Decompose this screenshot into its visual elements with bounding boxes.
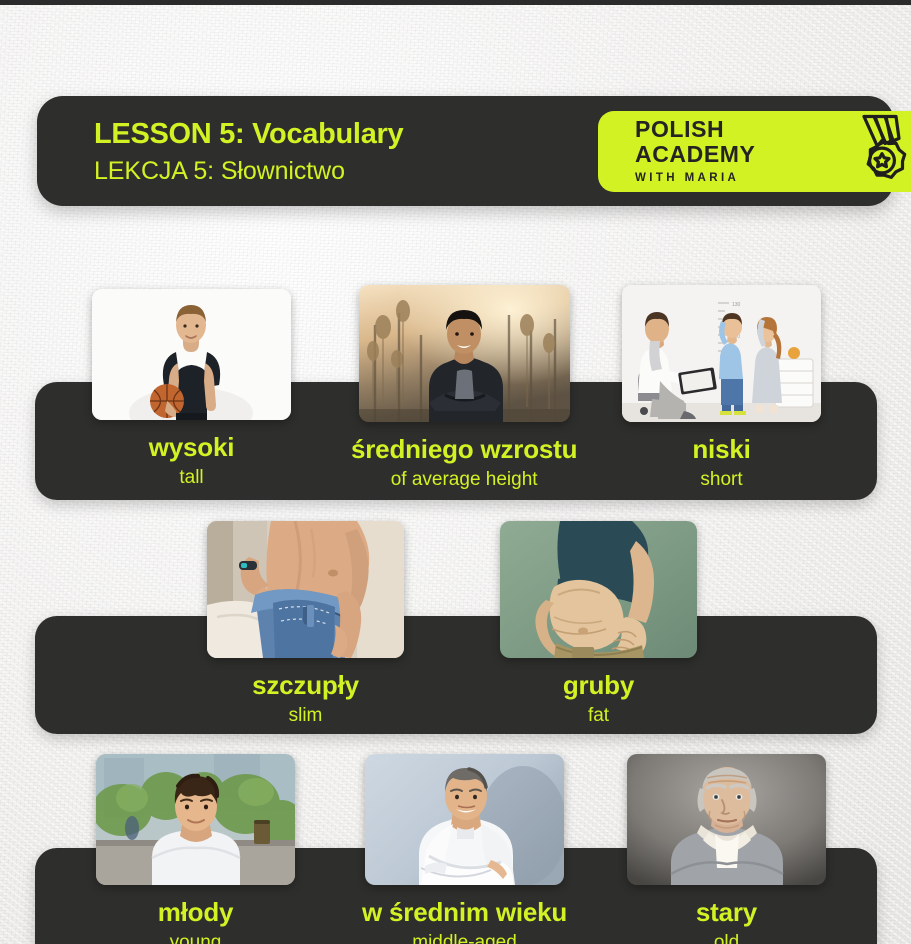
brand-wordmark: POLISH ACADEMY WITH MARIA bbox=[635, 117, 755, 187]
vocab-card-szczuply[interactable]: szczupły slim bbox=[207, 521, 404, 729]
tall-man-with-basketball-photo bbox=[92, 289, 291, 420]
brand-line-polish: POLISH bbox=[635, 117, 755, 142]
vocab-word-polish: stary bbox=[696, 897, 757, 927]
vocab-word-polish: wysoki bbox=[149, 432, 235, 462]
vocab-card-wysoki[interactable]: wysoki tall bbox=[92, 289, 291, 491]
vocab-word-polish: w średnim wieku bbox=[362, 897, 567, 927]
lesson-title-polish: LEKCJA 5: Słownictwo bbox=[94, 154, 403, 188]
smiling-man-in-field-photo bbox=[359, 285, 570, 422]
slide-stage: LESSON 5: Vocabulary LEKCJA 5: Słownictw… bbox=[0, 0, 911, 944]
svg-text:130: 130 bbox=[732, 302, 741, 308]
lesson-title-english: LESSON 5: Vocabulary bbox=[94, 114, 403, 154]
medal-icon bbox=[851, 114, 911, 189]
vocab-word-english: middle-aged bbox=[412, 930, 517, 944]
vocab-card-niski[interactable]: 130 120 110 bbox=[622, 285, 821, 493]
vocab-word-english: tall bbox=[179, 465, 203, 491]
vocab-card-stary[interactable]: stary old bbox=[627, 754, 826, 944]
elderly-man-grey-sweater-photo bbox=[627, 754, 826, 885]
vocab-word-english: young bbox=[170, 930, 222, 944]
slim-torso-loose-jeans-photo bbox=[207, 521, 404, 658]
vocab-card-w-srednim-wieku[interactable]: w średnim wieku middle-aged bbox=[362, 754, 567, 944]
top-edge-strip bbox=[0, 0, 911, 5]
vocab-word-polish: średniego wzrostu bbox=[351, 434, 577, 464]
vocab-word-polish: gruby bbox=[563, 670, 634, 700]
overweight-man-belly-photo bbox=[500, 521, 697, 658]
vocab-card-mlody[interactable]: młody young bbox=[96, 754, 295, 944]
lesson-header-text: LESSON 5: Vocabulary LEKCJA 5: Słownictw… bbox=[94, 114, 403, 188]
vocab-card-sredniego-wzrostu[interactable]: średniego wzrostu of average height bbox=[351, 285, 577, 493]
doctor-measuring-children-height-photo: 130 120 110 bbox=[622, 285, 821, 422]
vocab-card-gruby[interactable]: gruby fat bbox=[500, 521, 697, 729]
brand-logo-badge[interactable]: POLISH ACADEMY WITH MARIA bbox=[598, 111, 911, 192]
lesson-header-bar: LESSON 5: Vocabulary LEKCJA 5: Słownictw… bbox=[37, 96, 894, 206]
vocab-word-english: fat bbox=[588, 703, 609, 729]
vocab-word-english: short bbox=[700, 467, 742, 493]
vocab-word-english: old bbox=[714, 930, 739, 944]
middle-aged-man-white-shirt-photo bbox=[365, 754, 564, 885]
brand-line-academy: ACADEMY bbox=[635, 142, 755, 167]
vocab-word-english: slim bbox=[289, 703, 323, 729]
brand-tagline: WITH MARIA bbox=[635, 169, 755, 187]
vocab-word-polish: młody bbox=[158, 897, 234, 927]
vocab-word-polish: szczupły bbox=[252, 670, 359, 700]
vocab-word-polish: niski bbox=[692, 434, 750, 464]
vocab-row-panel-build bbox=[35, 616, 877, 734]
vocab-word-english: of average height bbox=[391, 467, 538, 493]
young-man-outdoors-photo bbox=[96, 754, 295, 885]
